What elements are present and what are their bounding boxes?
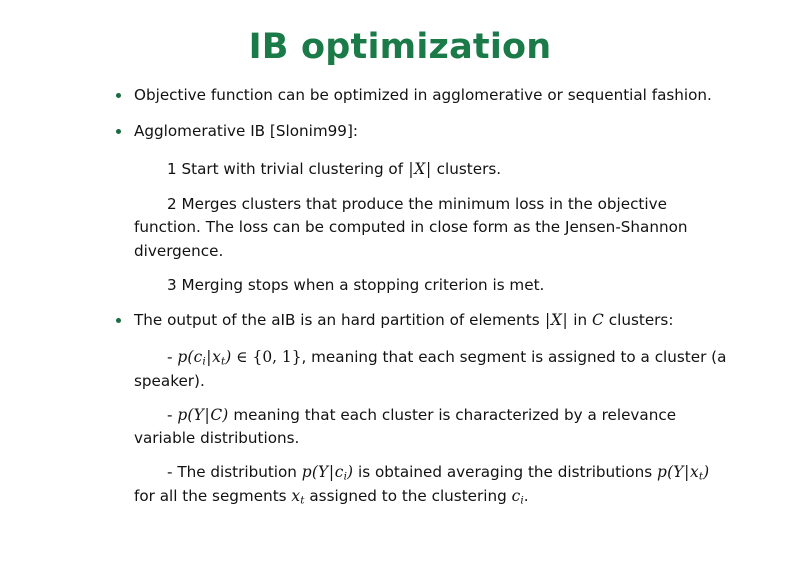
math-binary-set: {0, 1} [253,348,302,366]
math-symbol-c: C [592,311,604,329]
bullet-item-output: The output of the aIB is an hard partiti… [113,311,723,331]
step-item-1: 1 Start with trivial clustering of |X| c… [113,158,723,182]
math-p-y-given-c: p(Y|C) [177,406,228,424]
step-item-3-text: 3 Merging stops when a stopping criterio… [134,274,734,298]
sub-item-3-middle: is obtained averaging the distributions [358,463,652,481]
step-number-3: 3 [167,276,177,294]
spacer [113,145,723,156]
math-p-y-given-xt: p(Y|xt) [657,463,709,481]
spacer [113,393,723,402]
sub-item-hard-assignment-text: - p(ci|xt) ∈ {0, 1}, meaning that each s… [134,346,734,393]
bullet-item-output-label: The output of the aIB is an hard partiti… [134,311,723,331]
math-p-ci-given-xt: p(ci|xt) [177,348,231,366]
bullet-dot-icon [116,93,121,98]
spacer [113,298,723,311]
presentation-slide: IB optimization Objective function can b… [0,0,800,565]
step-item-3: 3 Merging stops when a stopping criterio… [113,274,723,298]
sub-item-averaging-text: - The distribution p(Y|ci) is obtained a… [134,461,734,510]
step-item-2: 2 Merges clusters that produce the minim… [113,193,723,264]
bullet-item-agglomerative-label: Agglomerative IB [Slonim99]: [134,122,723,141]
step-1-text-after: clusters. [437,160,501,178]
math-p-y-given-ci: p(Y|ci) [302,463,353,481]
dash-marker: - [167,463,172,481]
sub-item-relevance-distribution: - p(Y|C) meaning that each cluster is ch… [113,404,723,450]
spacer [113,263,723,272]
step-1-text-before: Start with trivial clustering of [182,160,404,178]
bullet-item-agglomerative: Agglomerative IB [Slonim99]: [113,122,723,141]
math-cluster-ci: ci [512,487,524,505]
dash-marker: - [167,406,172,424]
bullet-dot-icon [116,318,121,323]
step-2-body: Merges clusters that produce the minimum… [134,195,688,260]
step-number-1: 1 [167,160,177,178]
sub-item-3-middle3: assigned to the clustering [309,487,506,505]
spacer [113,334,723,344]
bullet-dot-icon [116,129,121,134]
dash-marker: - [167,348,172,366]
output-text-part2: in [573,311,587,329]
output-text-part1: The output of the aIB is an hard partiti… [134,311,540,329]
bullet-item-objective-label: Objective function can be optimized in a… [134,86,723,105]
output-text-part3: clusters: [609,311,674,329]
spacer [113,182,723,191]
math-segment-xt: xt [291,487,304,505]
step-item-2-text: 2 Merges clusters that produce the minim… [134,193,734,264]
sub-item-averaging: - The distribution p(Y|ci) is obtained a… [113,461,723,510]
math-cardinality-x: |X| [544,311,568,329]
spacer [113,108,723,122]
bullet-item-objective: Objective function can be optimized in a… [113,86,723,105]
sub-item-3-before: The distribution [177,463,297,481]
page-title: IB optimization [0,27,800,67]
math-element-of-symbol: ∈ [236,348,247,366]
sub-item-3-after: . [524,487,529,505]
slide-body: Objective function can be optimized in a… [113,86,723,509]
step-3-body: Merging stops when a stopping criterion … [182,276,545,294]
step-item-1-text: 1 Start with trivial clustering of |X| c… [134,158,734,182]
math-cardinality-x: |X| [408,160,432,178]
sub-item-hard-assignment: - p(ci|xt) ∈ {0, 1}, meaning that each s… [113,346,723,393]
spacer [113,450,723,459]
sub-item-3-middle2: for all the segments [134,487,287,505]
sub-item-relevance-distribution-text: - p(Y|C) meaning that each cluster is ch… [134,404,734,450]
step-number-2: 2 [167,195,177,213]
